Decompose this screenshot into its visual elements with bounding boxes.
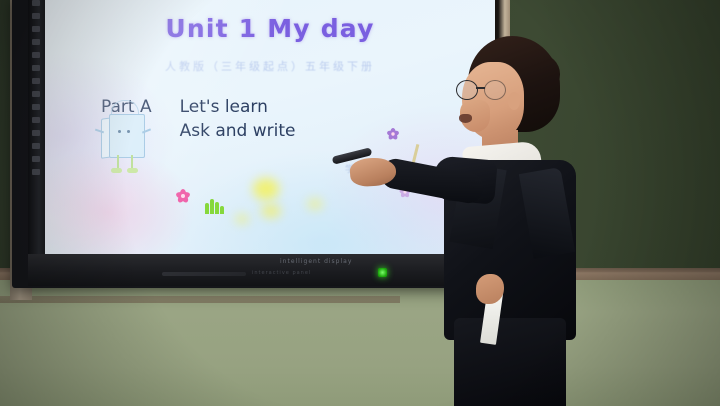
yellow-glow-3 [307,198,323,210]
purple-flower-icon [386,127,400,141]
ir-sensor-strip [32,0,42,204]
whiteboard-control-keys[interactable] [162,272,246,276]
trousers [454,318,566,406]
classroom-scene: Unit 1 My day 人教版（三年级起点）五年级下册 Part A Let… [0,0,720,406]
whiteboard-brand-logo: intelligent display [280,258,352,265]
slide-body: Part A Let's learn Ask and write [101,95,481,143]
slide-line-1: Let's learn [180,95,296,119]
yellow-glow-4 [235,214,249,224]
interactive-whiteboard[interactable]: Unit 1 My day 人教版（三年级起点）五年级下册 Part A Let… [12,0,490,288]
yellow-glow-1 [253,178,279,200]
slide-title: Unit 1 My day [45,14,495,43]
slide-line-2: Ask and write [180,119,296,143]
whiteboard-sub-label: interactive panel [252,270,311,276]
whiteboard-screen[interactable]: Unit 1 My day 人教版（三年级起点）五年级下册 Part A Let… [45,0,495,254]
book-mascot-icon [93,100,157,186]
yellow-glow-2 [261,204,281,218]
eyeglasses-icon [456,80,510,100]
pink-flower-icon [175,188,191,204]
slide-subtitle: 人教版（三年级起点）五年级下册 [45,58,495,74]
teacher-figure [430,18,680,406]
mouth [459,114,472,123]
grass-tuft-icon [205,198,227,214]
wall-ledge-secondary [0,296,400,303]
power-indicator-led [378,268,387,277]
